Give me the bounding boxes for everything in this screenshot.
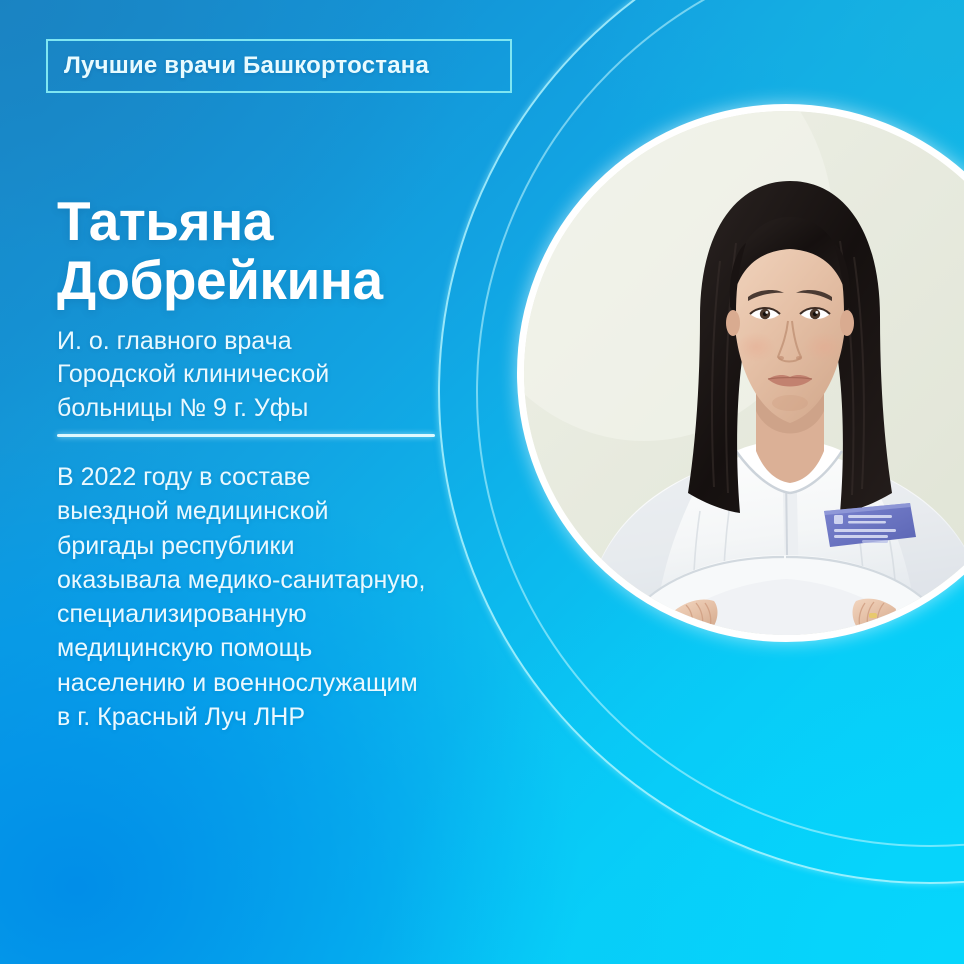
poster-card: Лучшие врачи Башкортостана Татьяна Добре…: [0, 0, 964, 964]
header-badge: Лучшие врачи Башкортостана: [46, 39, 512, 93]
header-badge-label: Лучшие врачи Башкортостана: [64, 52, 429, 80]
description-line-8: в г. Красный Луч ЛНР: [57, 700, 527, 734]
description-line-6: медицинскую помощь: [57, 631, 527, 665]
section-divider: [57, 434, 435, 437]
description-line-2: выездной медицинской: [57, 494, 527, 528]
person-role-line-2: Городской клинической: [57, 358, 487, 391]
person-name-last: Добрейкина: [57, 251, 517, 310]
description-line-7: населению и военнослужащим: [57, 666, 527, 700]
person-role-line-1: И. о. главного врача: [57, 325, 487, 358]
person-name: Татьяна Добрейкина: [57, 192, 517, 310]
description-line-5: специализированную: [57, 597, 527, 631]
person-name-first: Татьяна: [57, 192, 517, 251]
description-line-3: бригады республики: [57, 529, 527, 563]
description-line-1: В 2022 году в составе: [57, 460, 527, 494]
achievement-description: В 2022 году в составе выездной медицинск…: [57, 460, 527, 734]
person-role-line-3: больницы № 9 г. Уфы: [57, 392, 487, 425]
portrait-photo: [524, 111, 964, 635]
description-line-4: оказывала медико-санитарную,: [57, 563, 527, 597]
person-role: И. о. главного врача Городской клиническ…: [57, 325, 487, 425]
